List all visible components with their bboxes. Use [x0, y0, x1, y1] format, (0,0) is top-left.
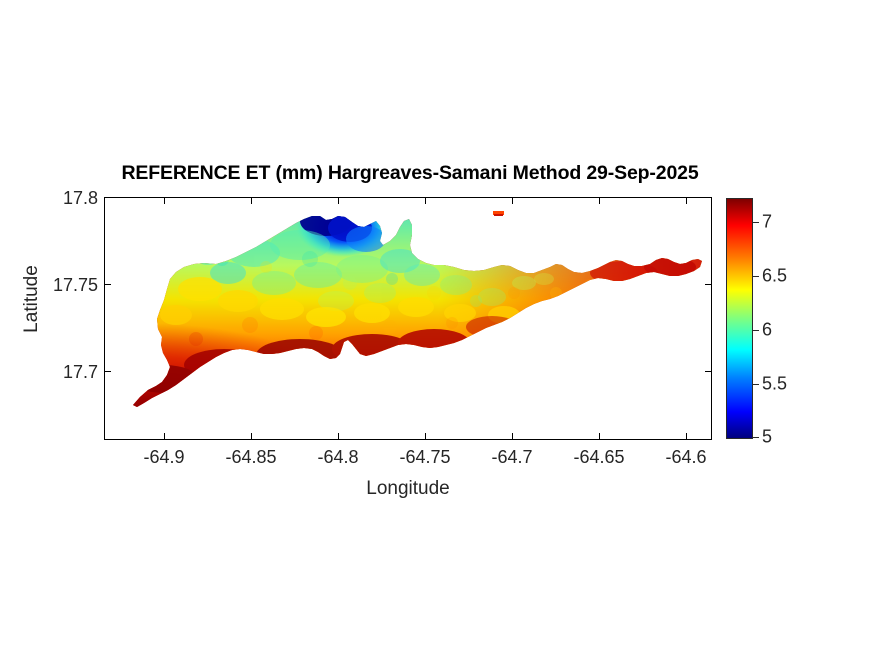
et-field-cells [104, 197, 712, 440]
et-raster-map [104, 197, 712, 440]
ytick-labels: 17.8 17.75 17.7 [0, 0, 98, 656]
colorbar-label-1: 6.5 [762, 266, 787, 287]
xtick-label-6: -64.6 [665, 447, 706, 468]
colorbar-label-2: 6 [762, 320, 772, 341]
colorbar-label-0: 7 [762, 212, 772, 233]
x-axis-label: Longitude [104, 478, 712, 500]
xtick-label-3: -64.75 [399, 447, 450, 468]
xtick-label-1: -64.85 [225, 447, 276, 468]
colorbar-label-3: 5.5 [762, 374, 787, 395]
ytick-label-0: 17.8 [63, 188, 98, 209]
page-title: REFERENCE ET (mm) Hargreaves-Samani Meth… [0, 162, 820, 185]
figure-canvas: REFERENCE ET (mm) Hargreaves-Samani Meth… [0, 0, 875, 656]
colorbar-label-4: 5 [762, 427, 772, 448]
xtick-label-0: -64.9 [143, 447, 184, 468]
ytick-label-2: 17.7 [63, 362, 98, 383]
xtick-label-2: -64.8 [317, 447, 358, 468]
ytick-label-1: 17.75 [53, 275, 98, 296]
xtick-label-4: -64.7 [491, 447, 532, 468]
xtick-label-5: -64.65 [573, 447, 624, 468]
colorbar[interactable] [726, 198, 753, 439]
islet-marker [493, 211, 504, 216]
y-axis-label: Latitude [21, 239, 43, 359]
